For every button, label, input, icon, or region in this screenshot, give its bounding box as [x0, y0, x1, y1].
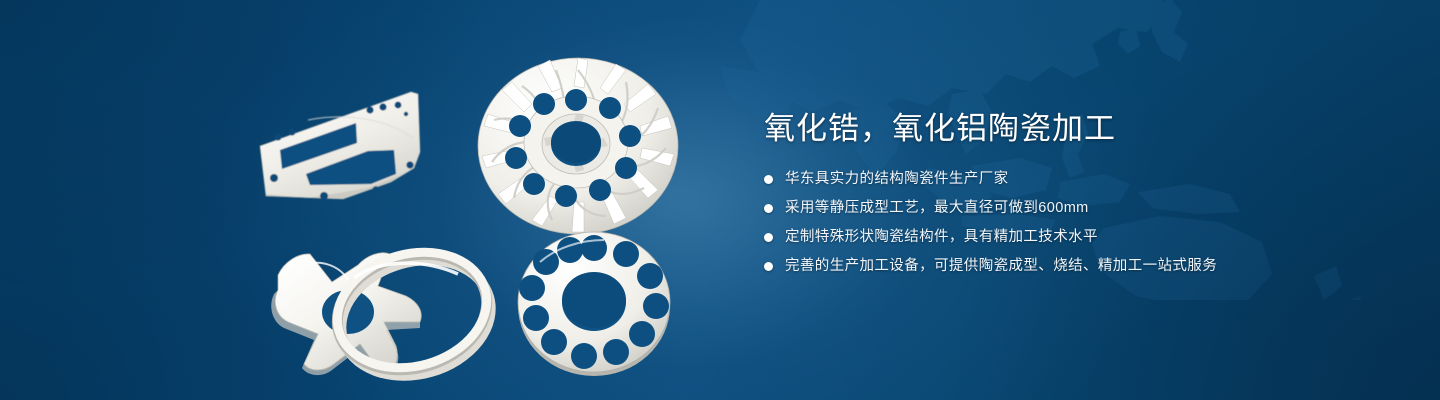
- banner-copy: 氧化锆，氧化铝陶瓷加工 华东具实力的结构陶瓷件生产厂家 采用等静压成型工艺，最大…: [764, 108, 1384, 284]
- feature-list: 华东具实力的结构陶瓷件生产厂家 采用等静压成型工艺，最大直径可做到600mm 定…: [764, 168, 1384, 277]
- list-item: 华东具实力的结构陶瓷件生产厂家: [764, 168, 1384, 190]
- bullet-dot-icon: [764, 233, 773, 242]
- ceramic-perforated-disc: [518, 232, 670, 376]
- feature-text: 定制特殊形状陶瓷结构件，具有精加工技术水平: [785, 226, 1098, 248]
- bullet-dot-icon: [764, 204, 773, 213]
- list-item: 完善的生产加工设备，可提供陶瓷成型、烧结、精加工一站式服务: [764, 255, 1384, 277]
- list-item: 采用等静压成型工艺，最大直径可做到600mm: [764, 197, 1384, 219]
- feature-text: 采用等静压成型工艺，最大直径可做到600mm: [785, 197, 1089, 219]
- ceramic-products-image: [248, 50, 678, 375]
- feature-text: 完善的生产加工设备，可提供陶瓷成型、烧结、精加工一站式服务: [785, 255, 1217, 277]
- hero-banner: 氧化锆，氧化铝陶瓷加工 华东具实力的结构陶瓷件生产厂家 采用等静压成型工艺，最大…: [0, 0, 1440, 400]
- list-item: 定制特殊形状陶瓷结构件，具有精加工技术水平: [764, 226, 1384, 248]
- ceramic-impeller-disc: [478, 58, 678, 234]
- bullet-dot-icon: [764, 175, 773, 184]
- page-title: 氧化锆，氧化铝陶瓷加工: [764, 108, 1384, 150]
- bullet-dot-icon: [764, 262, 773, 271]
- feature-text: 华东具实力的结构陶瓷件生产厂家: [785, 168, 1009, 190]
- ceramic-mounting-plate: [260, 90, 420, 200]
